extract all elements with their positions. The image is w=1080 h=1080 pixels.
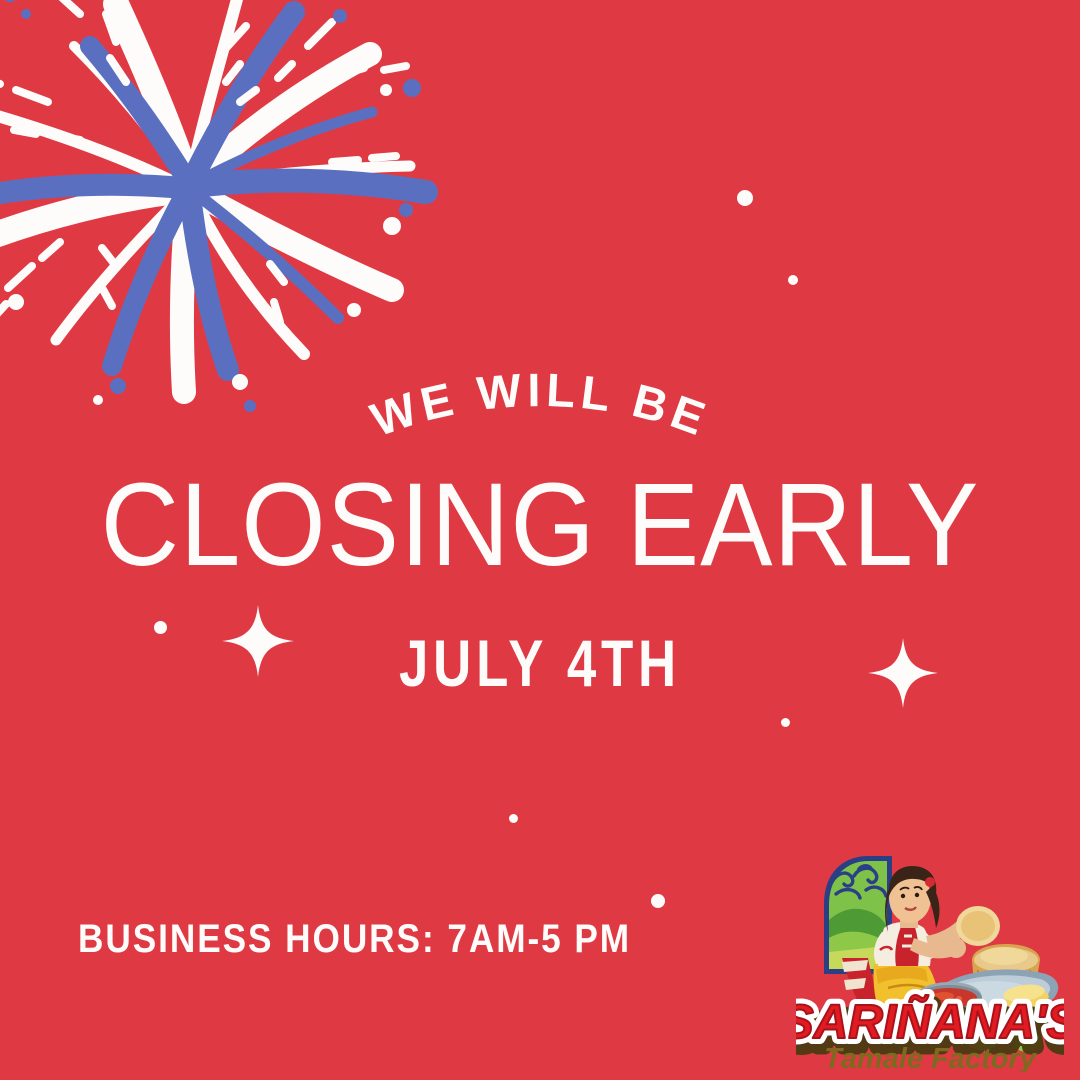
brand-tagline-text: Tamale Factory: [824, 1043, 1038, 1072]
confetti-dot: [781, 718, 790, 727]
confetti-dot: [509, 814, 518, 823]
sarinanas-logo[interactable]: SARIÑANA'S SARIÑANA'S SARIÑANA'S Tamale …: [796, 842, 1064, 1072]
poster-canvas: WE WILL BE CLOSING EARLY JULY 4TH BUSINE…: [0, 0, 1080, 1080]
confetti-dot: [651, 894, 665, 908]
kicker-text: WE WILL BE: [364, 363, 716, 447]
brand-name-text: SARIÑANA'S: [796, 994, 1064, 1049]
headline-closing-early: CLOSING EARLY: [43, 466, 1037, 584]
business-hours-text: BUSINESS HOURS: 7AM-5 PM: [78, 919, 631, 959]
confetti-dot: [737, 190, 753, 206]
confetti-dot: [788, 275, 798, 285]
date-july-4th: JULY 4TH: [108, 630, 972, 696]
